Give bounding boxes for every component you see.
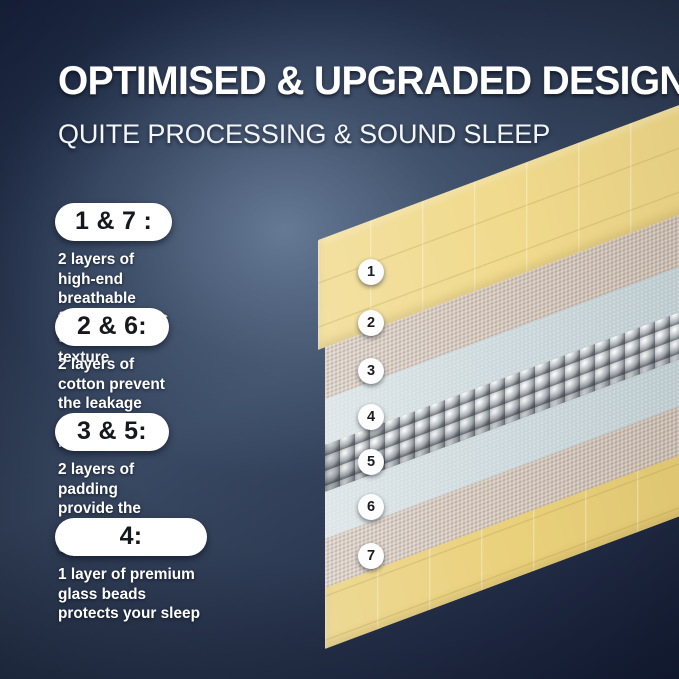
feature-pill-3: 3 & 5: [55,413,169,451]
feature-pill-4: 4: [55,518,207,556]
page-title: OPTIMISED & UPGRADED DESIGN [58,58,679,104]
layer-badge-6: 6 [358,494,384,520]
poster-root: 1 2 3 4 5 6 7 OPTIMISED & UPGRADED DESIG… [0,0,679,679]
feature-block-4: 4: 1 layer of premium glass beads protec… [55,518,207,624]
feature-pill-label-1: 1 & 7 : [75,207,152,235]
layer-badge-7: 7 [358,543,384,569]
feature-pill-label-2: 2 & 6: [77,312,147,340]
feature-pill-2: 2 & 6: [55,308,169,346]
layer-badge-2: 2 [358,310,384,336]
feature-pill-1: 1 & 7 : [55,203,172,241]
feature-pill-label-4: 4: [120,522,143,550]
layer-badge-4: 4 [358,404,384,430]
feature-pill-label-3: 3 & 5: [77,417,147,445]
page-subtitle: QUITE PROCESSING & SOUND SLEEP [58,118,550,150]
feature-body-4: 1 layer of premium glass beads protects … [58,565,207,624]
layer-badge-5: 5 [358,449,384,475]
layer-badge-1: 1 [358,259,384,285]
layer-badge-3: 3 [358,358,384,384]
